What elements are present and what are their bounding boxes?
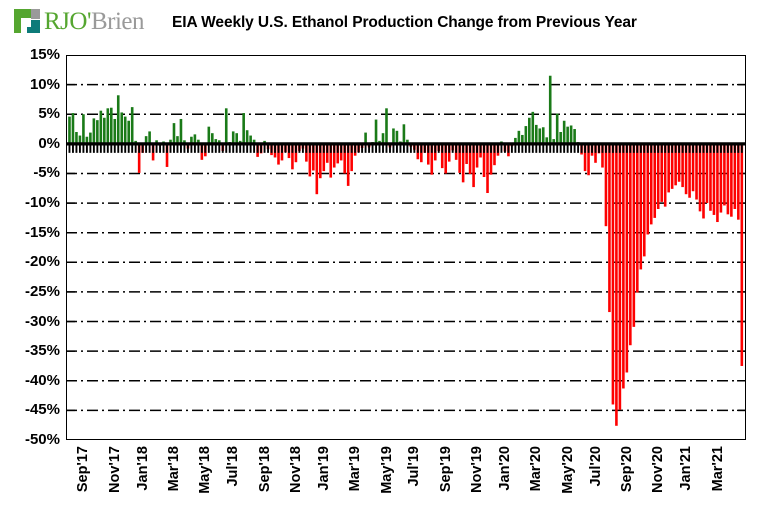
x-axis-tick-label: Nov'19 xyxy=(469,446,485,493)
x-axis-tick-label: Jan'21 xyxy=(678,446,694,491)
x-axis-tick-label: Sep'18 xyxy=(257,446,273,492)
plot-area xyxy=(66,55,746,440)
plot-frame xyxy=(66,55,746,440)
chart-header: RJO'Brien EIA Weekly U.S. Ethanol Produc… xyxy=(0,0,763,44)
x-axis-tick-label: Jul'20 xyxy=(588,446,604,487)
y-axis-tick-label: 15% xyxy=(2,46,60,63)
x-axis-tick-label: Sep'19 xyxy=(438,446,454,492)
x-axis-tick-label: Sep'17 xyxy=(75,446,91,492)
y-axis-tick-label: -10% xyxy=(2,194,60,211)
rjobrien-logo-icon xyxy=(14,9,40,33)
y-axis-tick-label: -50% xyxy=(2,431,60,448)
y-axis-tick-label: -30% xyxy=(2,313,60,330)
x-axis-tick-label: Jul'18 xyxy=(225,446,241,487)
y-axis-tick-label: 5% xyxy=(2,105,60,122)
x-axis-tick-label: May'18 xyxy=(197,446,213,494)
rjobrien-logo: RJO'Brien xyxy=(14,6,144,36)
logo-text-primary: RJO' xyxy=(44,8,91,35)
x-axis-tick-label: Jan'18 xyxy=(135,446,151,491)
x-axis-tick-label: Nov'17 xyxy=(107,446,123,493)
x-axis-tick-label: May'20 xyxy=(560,446,576,494)
x-axis-tick-label: Nov'20 xyxy=(650,446,666,493)
x-axis-tick-label: Mar'20 xyxy=(528,446,544,491)
x-axis-tick-label: Mar'18 xyxy=(166,446,182,491)
y-axis-tick-label: -15% xyxy=(2,224,60,241)
y-axis-tick-label: 10% xyxy=(2,76,60,93)
y-axis-tick-label: -25% xyxy=(2,283,60,300)
page-title: EIA Weekly U.S. Ethanol Production Chang… xyxy=(172,14,637,32)
y-axis-tick-label: 0% xyxy=(2,135,60,152)
y-axis-tick-label: -45% xyxy=(2,401,60,418)
y-axis-tick-label: -35% xyxy=(2,342,60,359)
x-axis-tick-label: Nov'18 xyxy=(288,446,304,493)
logo-text-secondary: Brien xyxy=(91,8,144,35)
y-axis-tick-label: -40% xyxy=(2,372,60,389)
x-axis-tick-label: Mar'19 xyxy=(347,446,363,491)
y-axis-tick-label: -20% xyxy=(2,253,60,270)
x-axis-tick-label: Sep'20 xyxy=(619,446,635,492)
x-axis-tick-label: May'19 xyxy=(379,446,395,494)
x-axis-tick-label: Jan'19 xyxy=(316,446,332,491)
x-axis-tick-label: Jan'20 xyxy=(497,446,513,491)
x-axis-tick-label: Jul'19 xyxy=(406,446,422,487)
x-axis-tick-label: Mar'21 xyxy=(710,446,726,491)
y-axis-tick-label: -5% xyxy=(2,164,60,181)
